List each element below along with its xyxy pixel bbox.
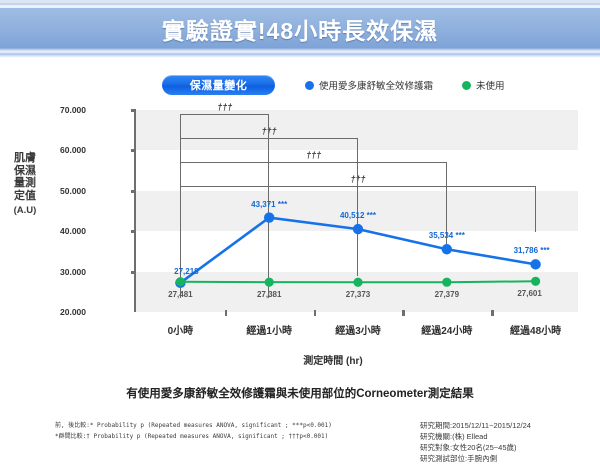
- data-point: [530, 259, 540, 269]
- header-banner: 實驗證實!48小時長效保濕: [0, 0, 600, 62]
- data-point-label: 40,512 ***: [340, 211, 376, 220]
- legend-pill-badge: 保濕量變化: [162, 75, 275, 95]
- legend-label-used: 使用愛多康舒敏全效修護霜: [319, 78, 433, 92]
- x-tick-label: 經過3小時: [335, 322, 381, 337]
- y-axis-title-text: 肌膚保濕量測定值: [14, 152, 36, 202]
- y-tick-label: 40.000: [40, 226, 86, 236]
- header-inner: 實驗證實!48小時長效保濕: [10, 8, 590, 50]
- data-point-label: 27,481: [168, 290, 192, 299]
- data-point-label: 27,373: [346, 290, 370, 299]
- footnotes: 前, 後比較:* Probability p (Repeated measure…: [55, 420, 375, 442]
- data-point: [265, 278, 274, 287]
- data-point-label: 27,218: [174, 267, 198, 276]
- page-root: 實驗證實!48小時長效保濕 保濕量變化 使用愛多康舒敏全效修護霜 未使用 肌膚保…: [0, 0, 600, 476]
- x-tick-label: 經過48小時: [510, 322, 561, 337]
- data-point-label: 35,534 ***: [429, 231, 465, 240]
- data-point: [531, 277, 540, 286]
- study-info-line: 研究對象:女性20名(25~45歲): [420, 442, 595, 453]
- x-tick-mark: [491, 310, 494, 316]
- study-info-line: 研究機關:(株) Ellead: [420, 431, 595, 442]
- study-info: 研究期間:2015/12/11~2015/12/24研究機關:(株) Ellea…: [420, 420, 595, 464]
- y-tick-label: 50.000: [40, 186, 86, 196]
- data-point: [353, 278, 362, 287]
- significance-stars: ***: [367, 211, 376, 220]
- legend-label-unused: 未使用: [476, 78, 505, 92]
- x-tick-label: 0小時: [168, 322, 194, 337]
- data-point: [442, 278, 451, 287]
- chart: 肌膚保濕量測定值 (A.U) 70.00060.00050.00040.0003…: [0, 104, 600, 364]
- significance-stars: ***: [540, 246, 549, 255]
- significance-stars: ***: [455, 231, 464, 240]
- y-axis-title: 肌膚保濕量測定值 (A.U): [14, 152, 36, 218]
- x-tick-mark: [225, 310, 228, 316]
- x-tick-label: 經過1小時: [246, 322, 292, 337]
- x-tick-label: 經過24小時: [421, 322, 472, 337]
- significance-stars: ***: [278, 200, 287, 209]
- data-point: [353, 224, 363, 234]
- y-tick-label: 30.000: [40, 267, 86, 277]
- data-point-label: 31,786 ***: [514, 246, 550, 255]
- data-point: [176, 277, 185, 286]
- plot-inner: †††††††††††† 27,21843,371 ***40,512 ***3…: [134, 110, 578, 312]
- data-point-label: 27,381: [257, 290, 281, 299]
- plot-region: †††††††††††† 27,21843,371 ***40,512 ***3…: [86, 104, 580, 318]
- green-dot-icon: [462, 81, 471, 90]
- y-tick-label: 60.000: [40, 145, 86, 155]
- y-axis-tick-labels: 70.00060.00050.00040.00030.00020.000: [38, 104, 86, 318]
- study-info-line: 研究期間:2015/12/11~2015/12/24: [420, 420, 595, 431]
- study-info-line: 研究測試部位:手腕內側: [420, 453, 595, 464]
- y-tick-label: 70.000: [40, 105, 86, 115]
- chart-caption: 有使用愛多康舒敏全效修護霜與未使用部位的Corneometer測定結果: [0, 385, 600, 401]
- x-tick-mark: [314, 310, 317, 316]
- data-point-label: 27,379: [435, 290, 459, 299]
- data-point: [264, 212, 274, 222]
- x-axis-title: 測定時間 (hr): [86, 352, 580, 367]
- legend-entry-used: 使用愛多康舒敏全效修護霜: [305, 78, 433, 92]
- x-tick-mark: [402, 310, 405, 316]
- legend-pill-label: 保濕量變化: [190, 77, 248, 93]
- data-point-label: 43,371 ***: [251, 200, 287, 209]
- footnote-line: *群間比較:† Probability p (Repeated measures…: [55, 431, 375, 442]
- y-tick-label: 20.000: [40, 307, 86, 317]
- footnote-line: 前, 後比較:* Probability p (Repeated measure…: [55, 420, 375, 431]
- blue-dot-icon: [305, 81, 314, 90]
- legend: 保濕量變化 使用愛多康舒敏全效修護霜 未使用: [0, 72, 600, 102]
- data-point-label: 27,601: [517, 289, 541, 298]
- legend-entry-unused: 未使用: [462, 78, 505, 92]
- data-point: [442, 244, 452, 254]
- page-title: 實驗證實!48小時長效保濕: [162, 12, 438, 46]
